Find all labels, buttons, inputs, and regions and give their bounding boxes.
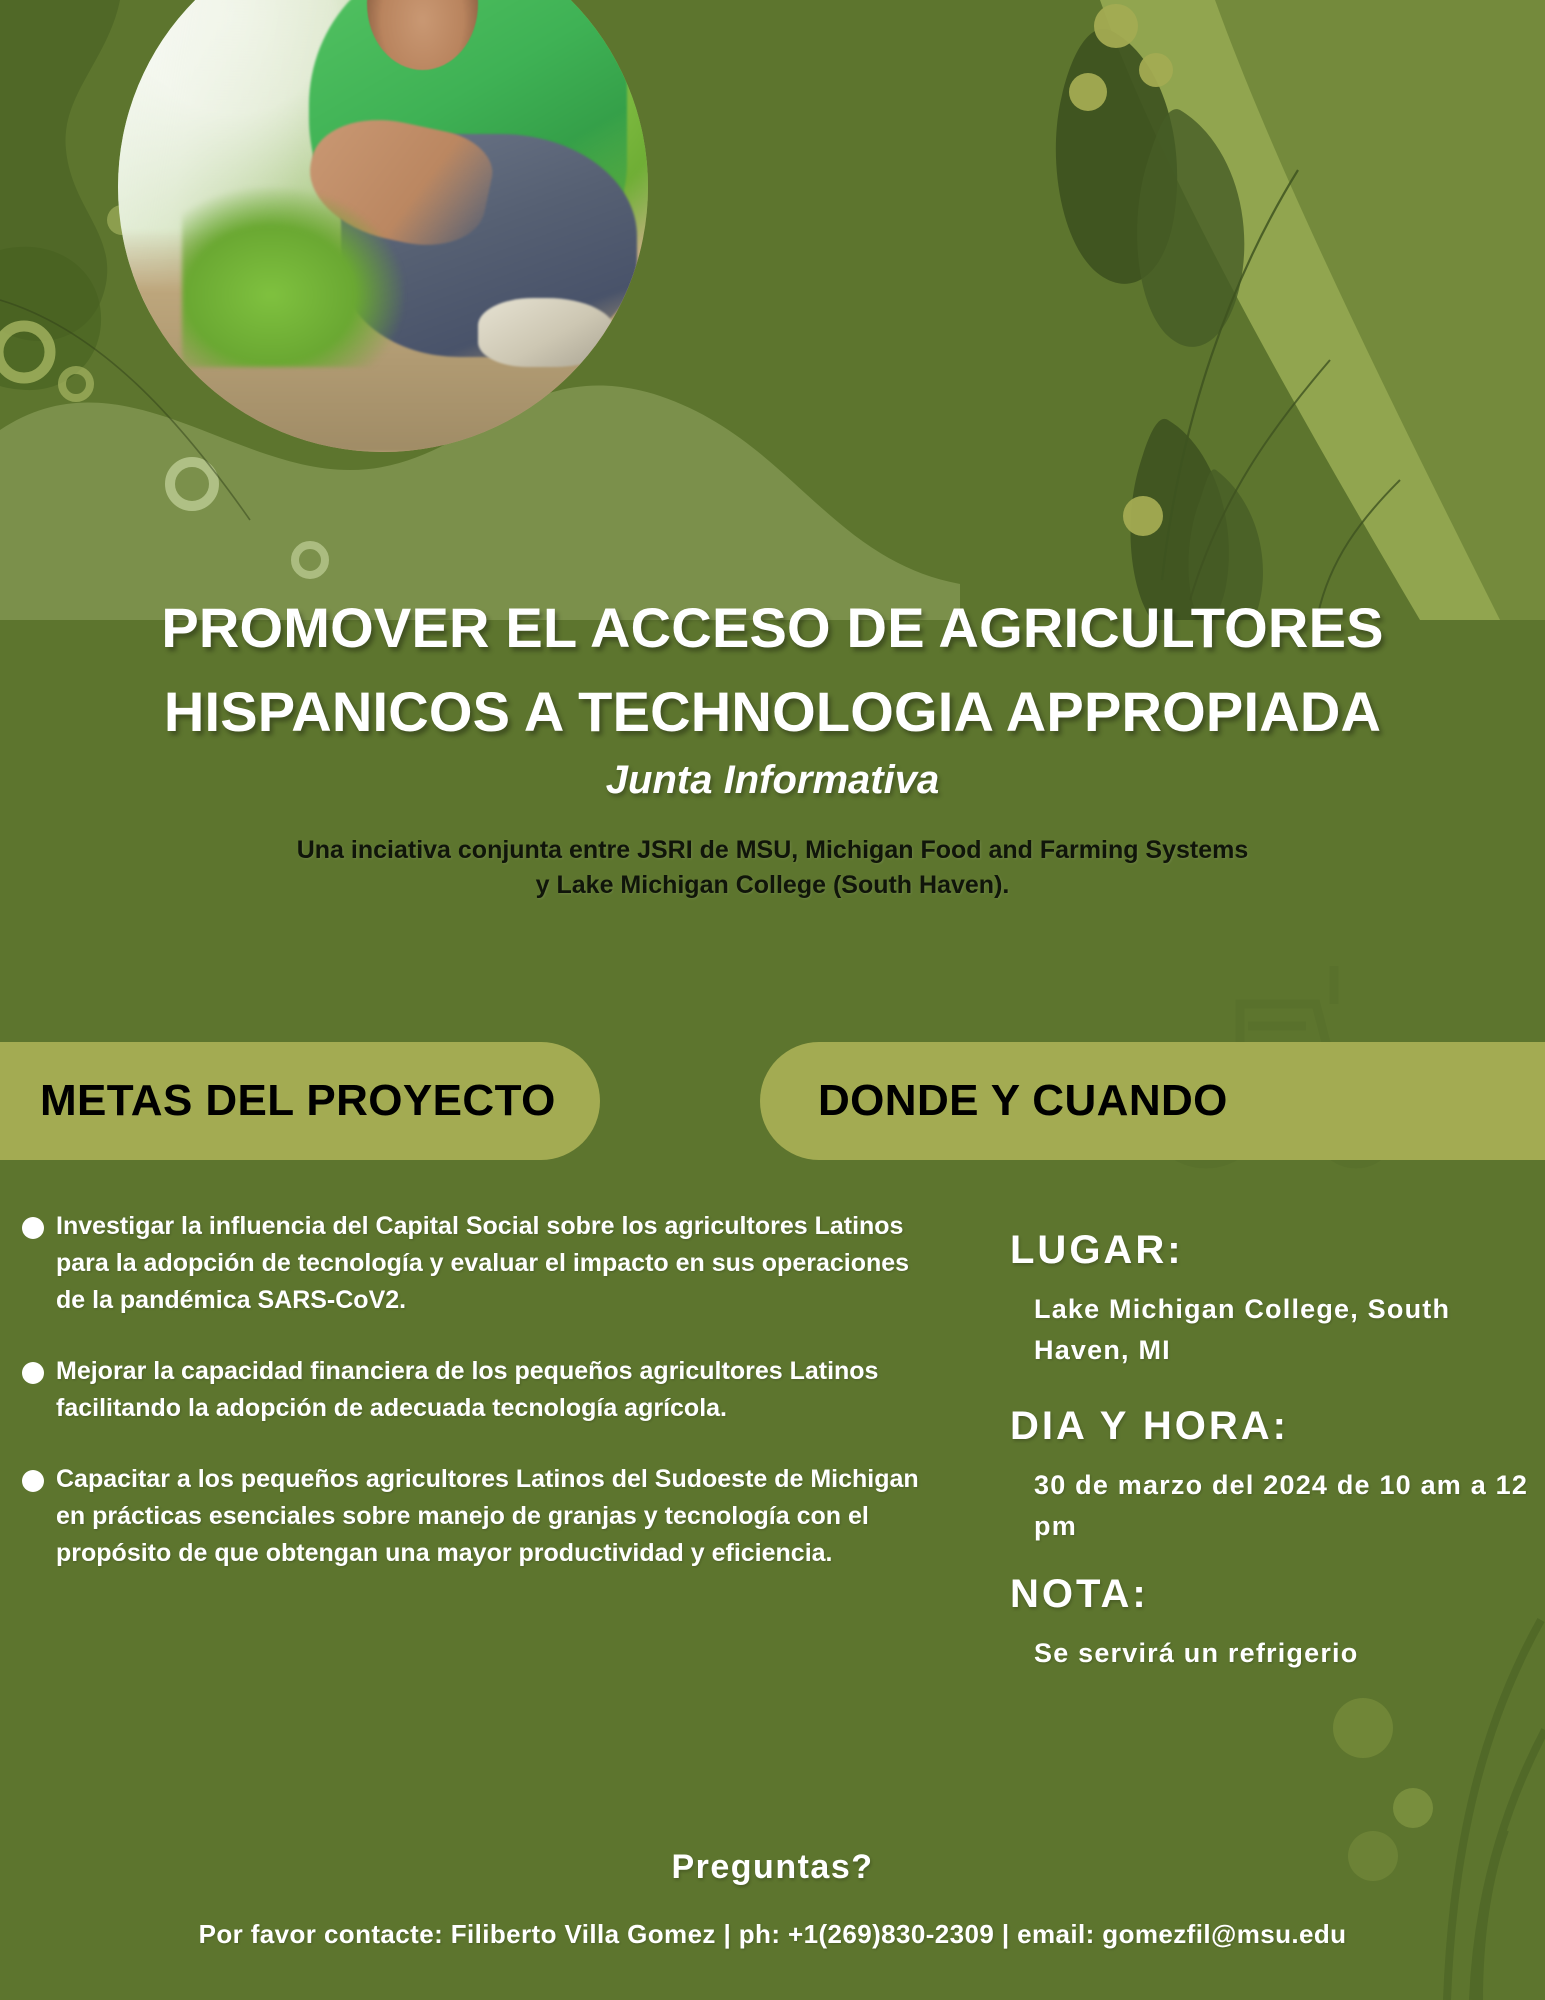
- goal-item: Mejorar la capacidad financiera de los p…: [14, 1353, 944, 1427]
- datetime-value: 30 de marzo del 2024 de 10 am a 12 pm: [1034, 1465, 1530, 1546]
- goal-text: Mejorar la capacidad financiera de los p…: [56, 1357, 878, 1422]
- bullet-dot-icon: [22, 1362, 44, 1384]
- footer: Preguntas? Por favor contacte: Filiberto…: [0, 1848, 1545, 1955]
- goals-header-label: METAS DEL PROYECTO: [40, 1076, 556, 1126]
- datetime-label: DIA Y HORA:: [1010, 1404, 1530, 1449]
- place-value: Lake Michigan College, South Haven, MI: [1034, 1289, 1530, 1370]
- goals-section-header: METAS DEL PROYECTO: [0, 1042, 600, 1160]
- where-when-header-label: DONDE Y CUANDO: [818, 1076, 1228, 1126]
- goal-item: Investigar la influencia del Capital Soc…: [14, 1208, 944, 1319]
- questions-heading: Preguntas?: [0, 1848, 1545, 1887]
- bullet-dot-icon: [22, 1470, 44, 1492]
- goal-item: Capacitar a los pequeños agricultores La…: [14, 1461, 944, 1572]
- title-block: PROMOVER EL ACCESO DE AGRICULTORES HISPA…: [0, 600, 1545, 902]
- bullet-dot-icon: [22, 1217, 44, 1239]
- goal-text: Capacitar a los pequeños agricultores La…: [56, 1465, 919, 1567]
- poster-blurb: Una inciativa conjunta entre JSRI de MSU…: [293, 833, 1253, 902]
- where-when-section-header: DONDE Y CUANDO: [760, 1042, 1545, 1160]
- contact-info: Por favor contacte: Filiberto Villa Gome…: [138, 1915, 1408, 1955]
- poster-title-line-2: HISPANICOS A TECHNOLOGIA APPROPIADA: [0, 684, 1545, 740]
- hero-banner: [0, 0, 1545, 620]
- goals-list: Investigar la influencia del Capital Soc…: [14, 1208, 944, 1606]
- poster-root: PROMOVER EL ACCESO DE AGRICULTORES HISPA…: [0, 0, 1545, 2000]
- farmer-photo: [118, 0, 648, 452]
- place-label: LUGAR:: [1010, 1228, 1530, 1273]
- poster-subtitle: Junta Informativa: [0, 758, 1545, 803]
- poster-title-line-1: PROMOVER EL ACCESO DE AGRICULTORES: [0, 600, 1545, 656]
- goal-text: Investigar la influencia del Capital Soc…: [56, 1212, 909, 1314]
